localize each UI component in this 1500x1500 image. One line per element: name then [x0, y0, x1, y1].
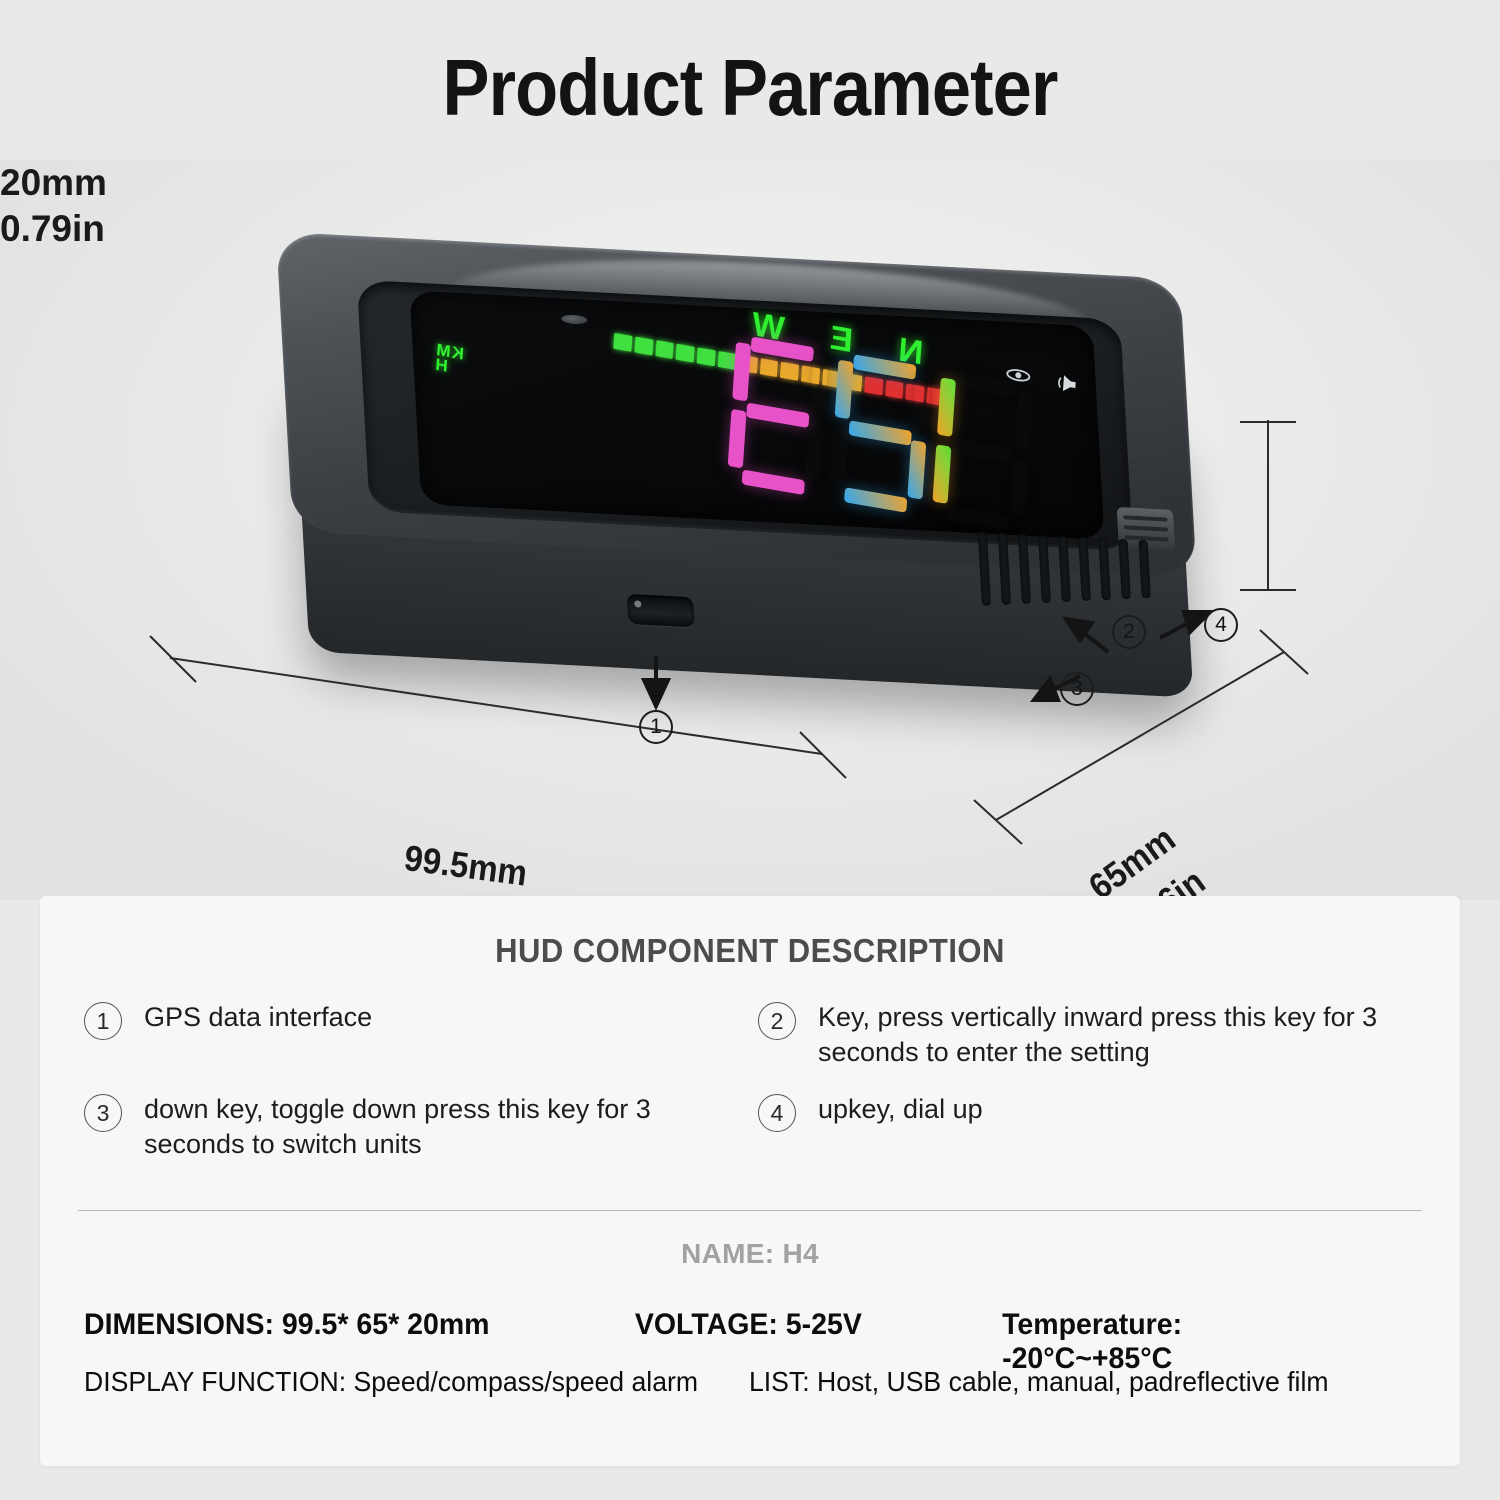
list-item: 1 GPS data interface: [84, 1000, 684, 1040]
digit-2: [829, 352, 931, 516]
height-mm: 20mm: [0, 160, 1500, 206]
digit-1: [931, 369, 1033, 533]
height-in: 0.79in: [0, 206, 1500, 252]
hud-screen: KM H N E W: [409, 290, 1104, 539]
speaker-alarm-icon: [1051, 371, 1078, 395]
product-name-row: NAME: H4: [40, 1238, 1460, 1270]
spec-display-function: DISPLAY FUNCTION: Speed/compass/speed al…: [84, 1366, 749, 1398]
item-text: GPS data interface: [144, 1000, 372, 1040]
list-item: 3 down key, toggle down press this key f…: [84, 1092, 704, 1162]
speed-digits: [727, 334, 1034, 533]
item-text: upkey, dial up: [818, 1092, 983, 1132]
item-number: 2: [758, 1002, 796, 1040]
spec-dimensions: DIMENSIONS: 99.5* 65* 20mm: [84, 1308, 635, 1342]
width-dimension-label: 99.5mm 3.92in: [394, 832, 530, 900]
callout-marker-2: 2: [1112, 615, 1146, 649]
depth-dimension-label: 65mm 2.56in: [1078, 814, 1217, 900]
speed-unit-label: KM H: [434, 342, 465, 376]
item-text: down key, toggle down press this key for…: [144, 1092, 704, 1162]
ventilation-slots: [978, 532, 1174, 638]
list-item: 4 upkey, dial up: [758, 1092, 1378, 1132]
spec-list: LIST: Host, USB cable, manual, padreflec…: [749, 1366, 1329, 1398]
hud-device: KM H N E W: [279, 230, 1202, 710]
height-dimension-label: 20mm 0.79in: [0, 160, 1500, 252]
mirrored-display-content: KM H N E W: [409, 290, 1104, 539]
spec-row-secondary: DISPLAY FUNCTION: Speed/compass/speed al…: [84, 1366, 1395, 1398]
item-number: 3: [84, 1094, 122, 1132]
description-panel: HUD COMPONENT DESCRIPTION 1 GPS data int…: [40, 896, 1460, 1466]
digit-3: [727, 334, 829, 498]
callout-marker-4: 4: [1204, 608, 1238, 642]
item-number: 1: [84, 1002, 122, 1040]
gps-data-port: [627, 594, 695, 627]
spec-voltage: VOLTAGE: 5-25V: [635, 1308, 1002, 1342]
panel-divider: [78, 1210, 1422, 1211]
callout-marker-1: 1: [639, 710, 673, 744]
callout-marker-3: 3: [1060, 672, 1094, 706]
item-number: 4: [758, 1094, 796, 1132]
list-item: 2 Key, press vertically inward press thi…: [758, 1000, 1408, 1070]
page-title: Product Parameter: [90, 42, 1410, 134]
item-text: Key, press vertically inward press this …: [818, 1000, 1408, 1070]
device-top-shell: KM H N E W: [276, 232, 1197, 579]
product-photo: KM H N E W: [0, 160, 1500, 900]
panel-heading: HUD COMPONENT DESCRIPTION: [83, 932, 1418, 970]
